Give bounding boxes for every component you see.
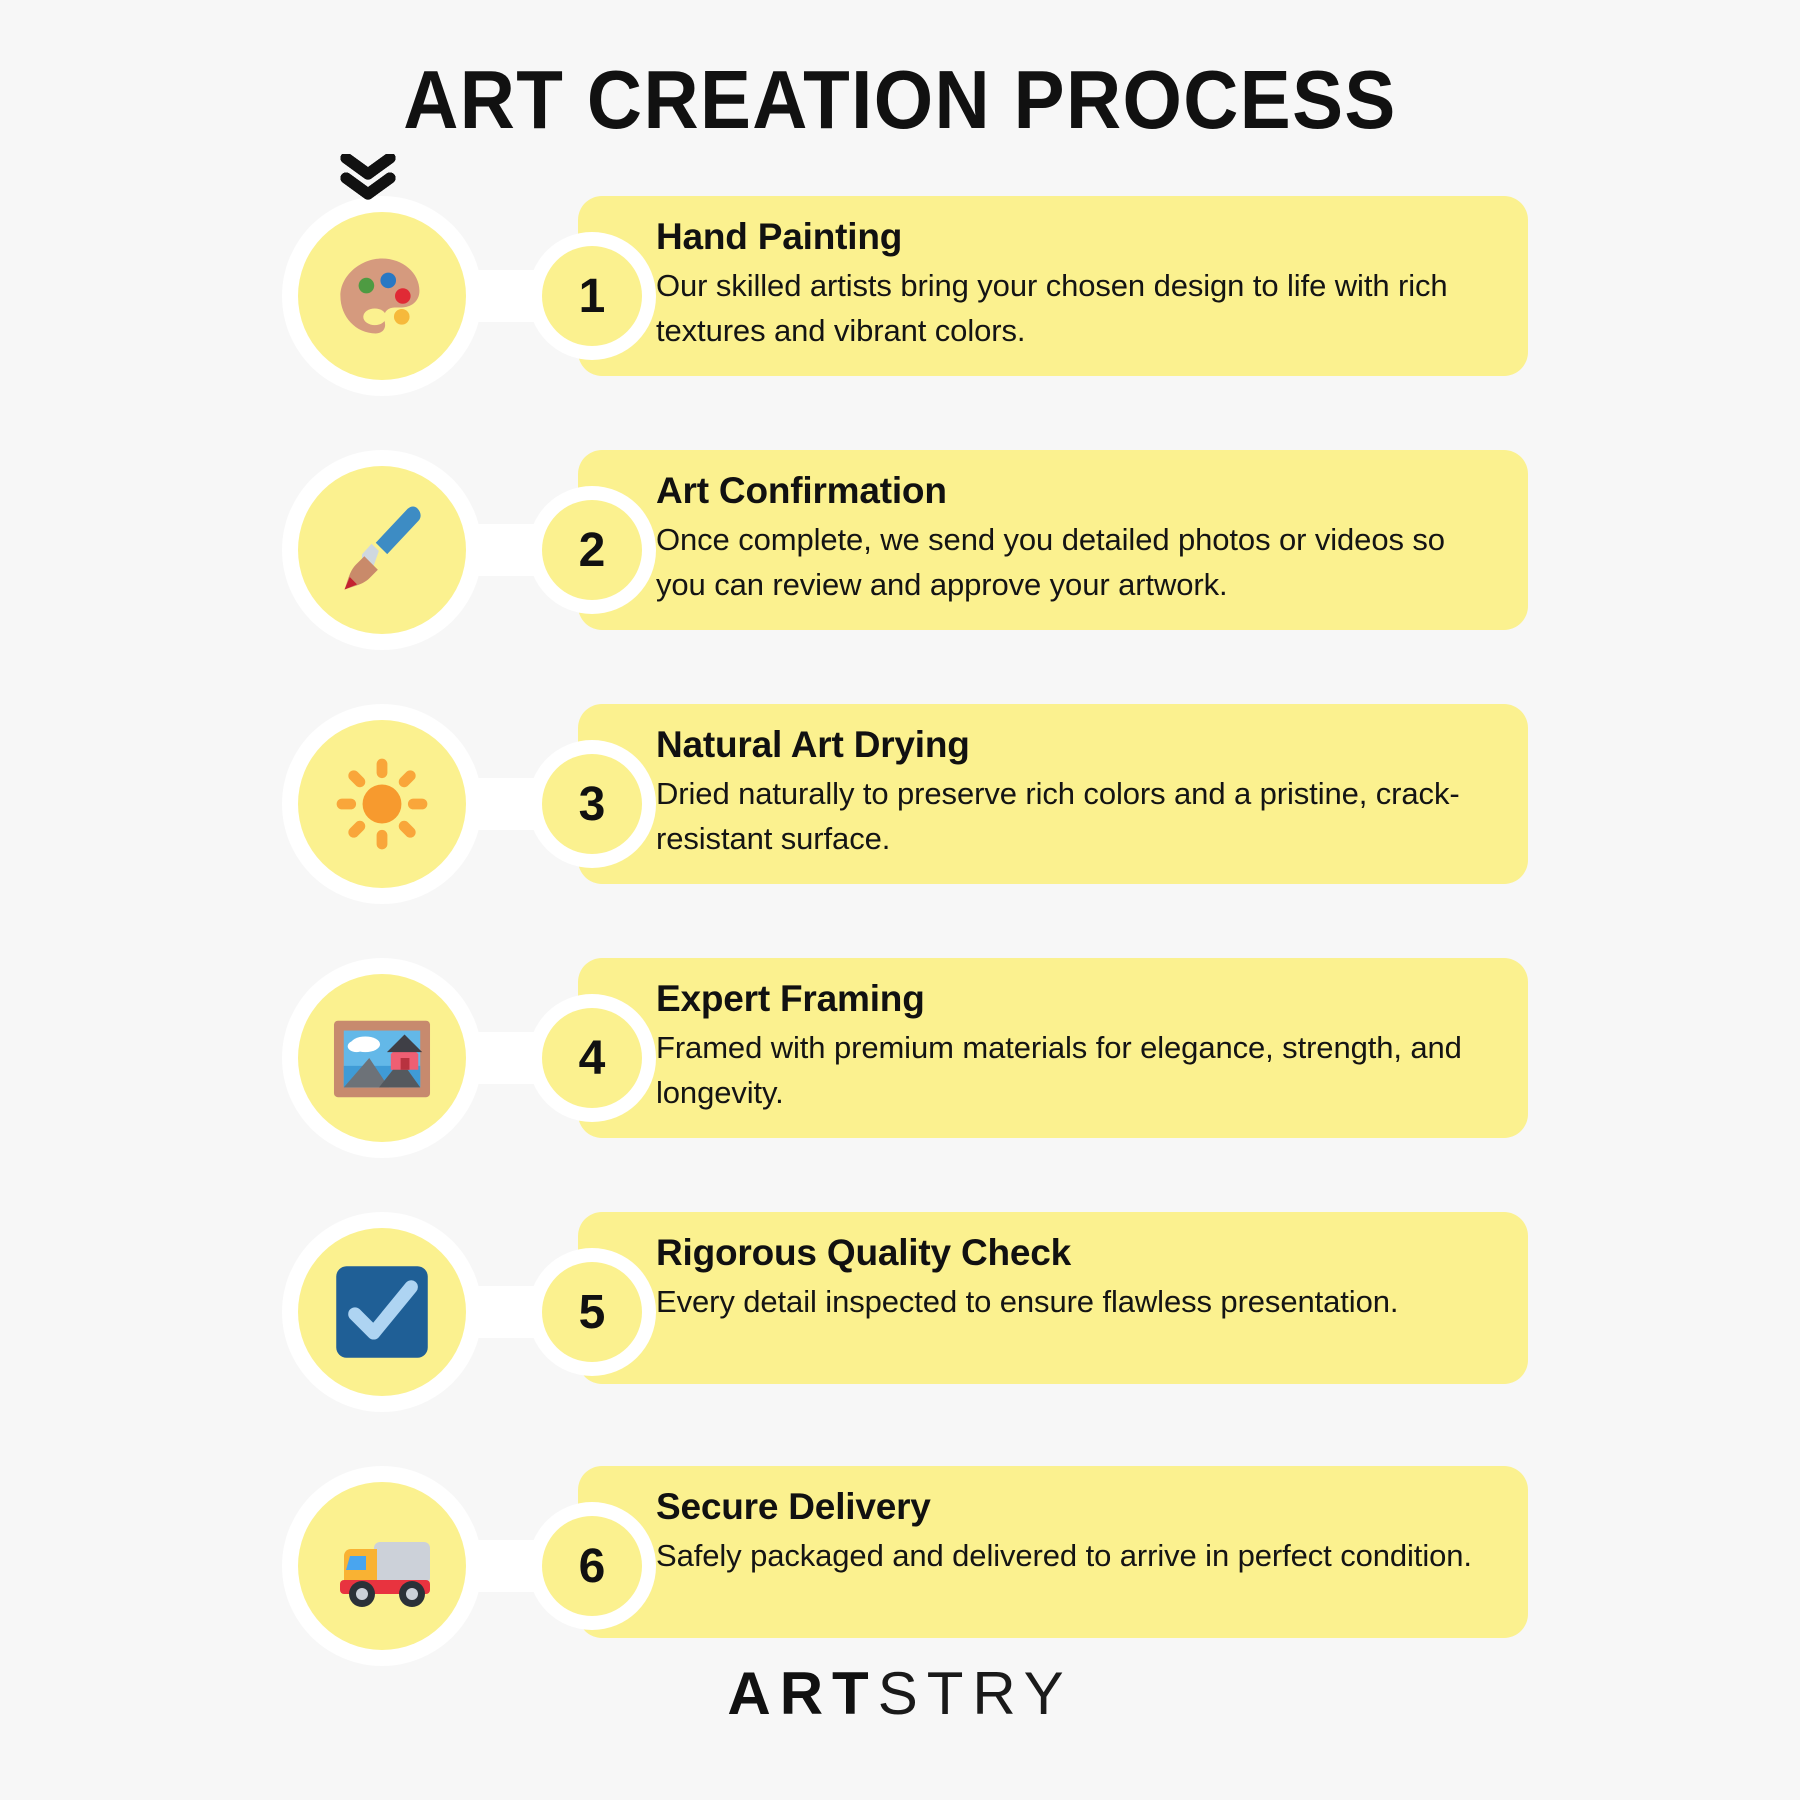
step-5-icon-circle: [282, 1212, 482, 1412]
step-4-title: Expert Framing: [656, 978, 1484, 1020]
step-1-title: Hand Painting: [656, 216, 1484, 258]
step-3-card[interactable]: Natural Art Drying Dried naturally to pr…: [578, 704, 1528, 884]
step-6-title: Secure Delivery: [656, 1486, 1484, 1528]
step-2-title: Art Confirmation: [656, 470, 1484, 512]
brand-logo-light: STRY: [878, 1660, 1073, 1727]
process-step-1: 1 Hand Painting Our skilled artists brin…: [0, 196, 1800, 396]
step-2-badge-circle: 2: [528, 486, 656, 614]
step-3-icon-disc: [298, 720, 466, 888]
brand-logo: ARTSTRY: [0, 1659, 1800, 1728]
process-step-5: 5 Rigorous Quality Check Every detail in…: [0, 1212, 1800, 1412]
infographic-page: ART CREATION PROCESS: [0, 0, 1800, 1800]
step-2-icon-circle: [282, 450, 482, 650]
double-chevron-down-icon: [340, 154, 396, 200]
check-box-icon: [330, 1260, 434, 1364]
framed-picture-icon: [328, 1009, 436, 1107]
step-6-icon-circle: [282, 1466, 482, 1666]
step-5-icon-disc: [298, 1228, 466, 1396]
step-2-description: Once complete, we send you detailed phot…: [656, 518, 1484, 608]
step-2-number: 2: [542, 500, 642, 600]
step-6-badge-circle: 6: [528, 1502, 656, 1630]
process-steps-list: 1 Hand Painting Our skilled artists brin…: [0, 196, 1800, 1712]
step-3-badge-circle: 3: [528, 740, 656, 868]
step-6-card[interactable]: Secure Delivery Safely packaged and deli…: [578, 1466, 1528, 1638]
step-1-badge-circle: 1: [528, 232, 656, 360]
step-3-icon-circle: [282, 704, 482, 904]
step-2-card[interactable]: Art Confirmation Once complete, we send …: [578, 450, 1528, 630]
step-2-icon-disc: [298, 466, 466, 634]
delivery-truck-icon: [326, 1520, 438, 1612]
step-4-badge-circle: 4: [528, 994, 656, 1122]
step-5-badge-circle: 5: [528, 1248, 656, 1376]
step-4-card[interactable]: Expert Framing Framed with premium mater…: [578, 958, 1528, 1138]
step-4-number: 4: [542, 1008, 642, 1108]
paintbrush-icon: [330, 498, 434, 602]
step-5-card[interactable]: Rigorous Quality Check Every detail insp…: [578, 1212, 1528, 1384]
step-1-icon-disc: [298, 212, 466, 380]
process-step-4: 4 Expert Framing Framed with premium mat…: [0, 958, 1800, 1158]
step-3-number: 3: [542, 754, 642, 854]
step-1-description: Our skilled artists bring your chosen de…: [656, 264, 1484, 354]
step-1-number: 1: [542, 246, 642, 346]
step-4-icon-circle: [282, 958, 482, 1158]
sun-icon: [328, 750, 436, 858]
step-5-number: 5: [542, 1262, 642, 1362]
step-1-icon-circle: [282, 196, 482, 396]
step-3-title: Natural Art Drying: [656, 724, 1484, 766]
step-6-description: Safely packaged and delivered to arrive …: [656, 1534, 1484, 1579]
brand-logo-bold: ART: [727, 1660, 877, 1727]
step-5-title: Rigorous Quality Check: [656, 1232, 1484, 1274]
palette-icon: [330, 244, 434, 348]
step-1-card[interactable]: Hand Painting Our skilled artists bring …: [578, 196, 1528, 376]
step-5-description: Every detail inspected to ensure flawles…: [656, 1280, 1484, 1325]
step-4-description: Framed with premium materials for elegan…: [656, 1026, 1484, 1116]
page-title: ART CREATION PROCESS: [72, 52, 1728, 148]
step-6-icon-disc: [298, 1482, 466, 1650]
step-3-description: Dried naturally to preserve rich colors …: [656, 772, 1484, 862]
step-4-icon-disc: [298, 974, 466, 1142]
step-6-number: 6: [542, 1516, 642, 1616]
process-step-2: 2 Art Confirmation Once complete, we sen…: [0, 450, 1800, 650]
process-step-6: 6 Secure Delivery Safely packaged and de…: [0, 1466, 1800, 1666]
process-step-3: 3 Natural Art Drying Dried naturally to …: [0, 704, 1800, 904]
